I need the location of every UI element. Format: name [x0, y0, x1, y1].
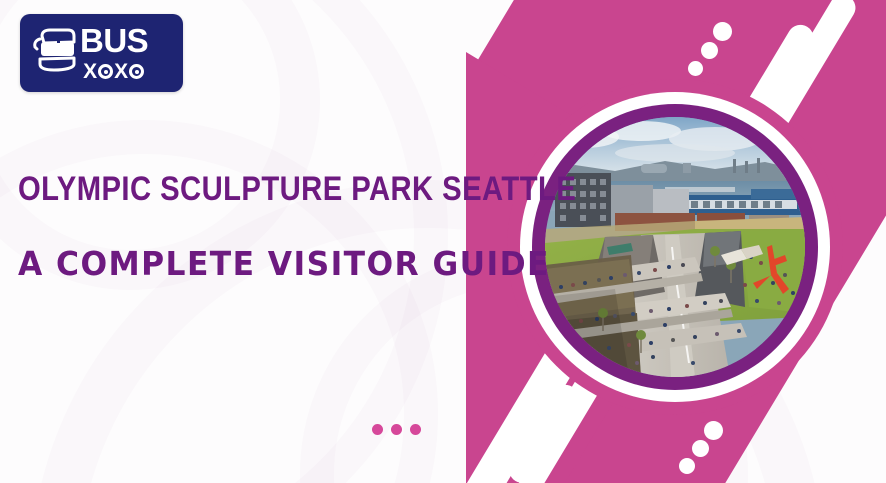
pink-dot [372, 424, 383, 435]
logo-x-1: X [83, 61, 97, 82]
site-logo[interactable]: BUS X X [20, 14, 183, 92]
logo-wordmark: BUS X X [80, 24, 148, 82]
headline-secondary: A COMPLETE VISITOR GUIDE [18, 244, 512, 283]
logo-word-bus: BUS [80, 24, 148, 57]
white-dot [713, 22, 732, 41]
white-dot [692, 440, 709, 457]
headline-block: OLYMPIC SCULPTURE PARK SEATTLE A COMPLET… [18, 172, 538, 283]
circular-photo-frame [507, 79, 843, 415]
white-dot [688, 61, 703, 76]
bus-icon [32, 26, 76, 81]
headline-primary: OLYMPIC SCULPTURE PARK SEATTLE [18, 172, 465, 208]
logo-xoxo: X X [83, 61, 145, 82]
white-dot [679, 458, 695, 474]
white-dot [704, 421, 723, 440]
logo-o-2 [129, 64, 144, 79]
logo-o-1 [98, 64, 113, 79]
pink-dot [410, 424, 421, 435]
white-dot [701, 42, 718, 59]
pink-dot [391, 424, 402, 435]
park-aerial-photo [545, 117, 805, 377]
promo-banner: BUS X X OLYMPIC SCULPTURE PARK SEATTLE A… [0, 0, 886, 483]
logo-x-2: X [114, 61, 128, 82]
